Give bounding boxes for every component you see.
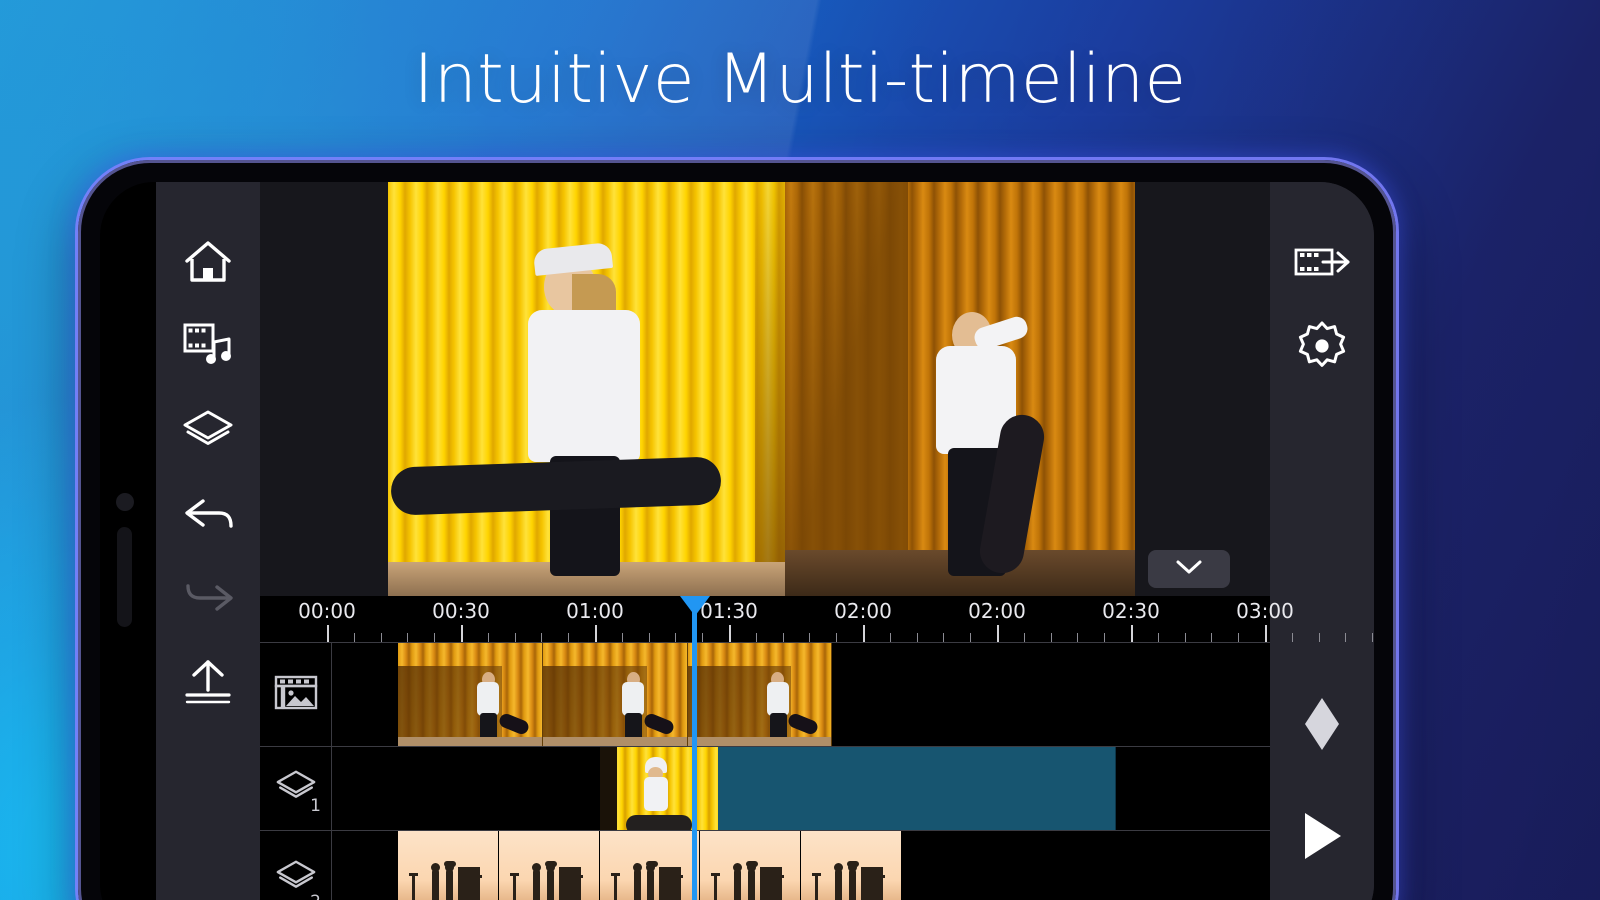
list-item [600,831,701,900]
ruler-tick-minor [1024,633,1025,642]
list-item [398,643,543,746]
filmstrip-image-icon [273,672,319,717]
sidebar-item-home[interactable] [156,220,260,304]
ruler-tick-minor [649,633,650,642]
list-item [543,643,688,746]
ruler-time-label: 00:30 [432,599,490,623]
ruler-tick-minor [568,633,569,642]
ruler-tick-major [1131,625,1133,642]
track-body-main-video[interactable] [332,643,1270,746]
track-number-label: 2 [310,892,321,900]
track-header-main-video[interactable] [260,643,332,746]
track-header-layer-2[interactable]: 2 [260,831,332,900]
export-clip-button[interactable] [1270,220,1374,304]
ruler-tick-major [595,625,597,642]
diamond-keyframe-icon [1302,696,1342,752]
ruler-time-label: 02:30 [1102,599,1160,623]
preview-skater-right [918,302,1068,592]
phone-screen: 00:0000:3001:0001:3002:0002:0002:3003:00 [100,182,1374,900]
ruler-time-label: 02:00 [834,599,892,623]
sidebar-item-redo[interactable] [156,556,260,640]
redo-arrow-icon [181,577,235,619]
ruler-tick-minor [756,633,757,642]
ruler-tick-minor [541,633,542,642]
ruler-tick-minor [809,633,810,642]
ruler-tick-major [997,625,999,642]
timeline-tracks: 1 [260,642,1270,900]
ruler-tick-minor [890,633,891,642]
ruler-tick-minor [1158,633,1159,642]
track-header-layer-1[interactable]: 1 [260,747,332,830]
thumbnail-strip-sunset [398,831,902,900]
preview-shadow-edge [755,182,908,596]
ruler-time-label: 03:00 [1236,599,1294,623]
ruler-tick-minor [1319,633,1320,642]
speaker-slot [117,527,132,627]
preview-frame [388,182,1152,596]
filmstrip-arrow-icon [1293,241,1351,283]
ruler-tick-minor [354,633,355,642]
track-body-layer-1[interactable] [332,747,1270,830]
sidebar-item-undo[interactable] [156,472,260,556]
ruler-tick-minor [702,633,703,642]
list-item [688,643,832,746]
skater-shirt [528,310,640,462]
preview-letterbox-left [260,182,388,596]
phone-notch [100,451,154,669]
list-item [801,831,902,900]
ruler-tick-minor [381,633,382,642]
editor-main: 00:0000:3001:0001:3002:0002:0002:3003:00 [260,182,1270,900]
upload-icon [182,658,234,706]
settings-button[interactable] [1270,304,1374,388]
track-body-layer-2[interactable] [332,831,1270,900]
ruler-tick-major [863,625,865,642]
timeline-panel[interactable]: 00:0000:3001:0001:3002:0002:0002:3003:00 [260,596,1270,900]
ruler-tick-minor [515,633,516,642]
timeline-ruler[interactable]: 00:0000:3001:0001:3002:0002:0002:3003:00 [260,596,1270,642]
ruler-tick-minor [1211,633,1212,642]
page-title: Intuitive Multi-timeline [0,40,1600,119]
list-item [398,831,499,900]
ruler-time-label: 02:00 [968,599,1026,623]
video-preview[interactable] [260,182,1270,596]
ruler-tick-minor [1185,633,1186,642]
ruler-tick-minor [1372,633,1373,642]
video-editor-app: 00:0000:3001:0001:3002:0002:0002:3003:00 [156,182,1374,900]
skater-cap [533,242,613,276]
track-number-label: 1 [310,796,321,816]
thumbnail-strip [398,643,832,746]
promo-stage: Intuitive Multi-timeline [0,0,1600,900]
ruler-tick-major [461,625,463,642]
media-library-icon [182,321,234,371]
skateboard [390,456,721,515]
table-row[interactable]: 2 [260,830,1270,900]
left-toolbar [156,182,260,900]
play-button[interactable] [1270,794,1374,878]
sidebar-item-media[interactable] [156,304,260,388]
ruler-tick-minor [1238,633,1239,642]
ruler-tick-minor [836,633,837,642]
ruler-tick-minor [1292,633,1293,642]
layers-icon [181,406,235,454]
clip-layer2-video[interactable] [398,831,902,900]
ruler-tick-minor [1104,633,1105,642]
ruler-tick-minor [917,633,918,642]
ruler-tick-major [729,625,731,642]
list-item [499,831,600,900]
chevron-down-icon [1174,558,1204,581]
sidebar-item-export[interactable] [156,640,260,724]
ruler-time-label: 01:00 [566,599,624,623]
ruler-tick-minor [488,633,489,642]
home-icon [183,239,233,285]
sidebar-item-layers[interactable] [156,388,260,472]
table-row[interactable] [260,642,1270,746]
collapse-preview-button[interactable] [1148,550,1230,588]
preview-letterbox-right [1135,182,1270,596]
clip-layer1-thumb[interactable] [600,747,718,830]
phone-mockup: 00:0000:3001:0001:3002:0002:0002:3003:00 [78,160,1396,900]
clip-main-video[interactable] [398,643,832,746]
ruler-tick-minor [943,633,944,642]
ruler-tick-minor [970,633,971,642]
ruler-tick-minor [622,633,623,642]
ruler-tick-major [1265,625,1267,642]
play-icon [1299,810,1345,862]
ruler-time-label: 01:30 [700,599,758,623]
right-toolbar [1270,182,1374,900]
list-item [700,831,801,900]
ruler-tick-minor [1051,633,1052,642]
ruler-tick-minor [407,633,408,642]
ruler-tick-minor [1345,633,1346,642]
preview-skater-left [506,234,706,574]
gear-icon [1296,320,1348,372]
ruler-time-label: 00:00 [298,599,356,623]
camera-icon [116,493,134,511]
ruler-tick-minor [783,633,784,642]
ruler-tick-minor [1077,633,1078,642]
keyframe-button[interactable] [1270,682,1374,766]
table-row[interactable]: 1 [260,746,1270,830]
ruler-tick-minor [675,633,676,642]
undo-arrow-icon [181,493,235,535]
ruler-tick-major [327,625,329,642]
clip-layer1-color[interactable] [718,747,1116,830]
ruler-tick-minor [434,633,435,642]
